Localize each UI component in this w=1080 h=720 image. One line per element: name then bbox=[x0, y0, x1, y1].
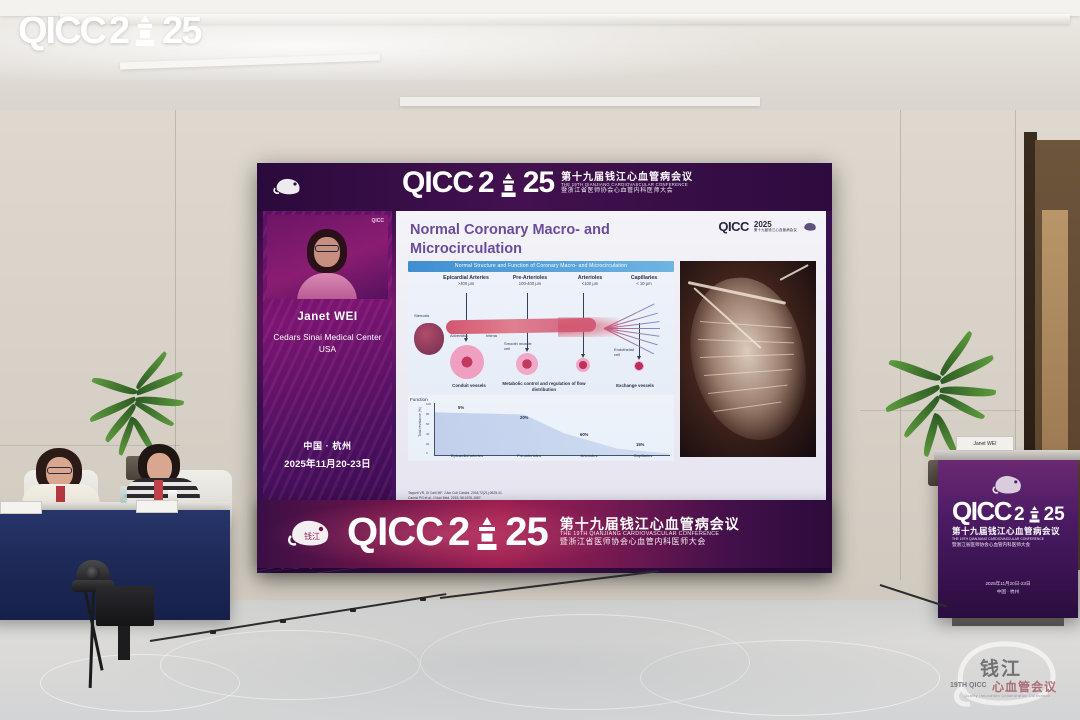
slide-qicc-logo: QICC 2025第十九届钱江心血管病会议 bbox=[718, 219, 818, 234]
chart-ylabel: Total resistance (%) bbox=[418, 407, 422, 437]
header-year-right: 25 bbox=[523, 169, 554, 198]
corrosion-cast-micrograph bbox=[680, 261, 816, 457]
cable-clip bbox=[210, 630, 216, 634]
banner-year-left: 2 bbox=[448, 513, 469, 551]
stenosis-label: Stenosis bbox=[414, 313, 429, 318]
vessel-cross-section bbox=[450, 345, 484, 379]
podium-lockup: QICC 2 25 第十九届钱江心血管病会议 THE 19TH QIANJIAN… bbox=[952, 500, 1065, 548]
venue-watermark: 钱江 心血管会议 19TH QICC Quality Innovation Co… bbox=[946, 632, 1070, 714]
chart-ytick: 0 bbox=[426, 451, 428, 455]
presenter-affiliation: Cedars Sinai Medical Center USA bbox=[263, 331, 392, 355]
vessel-cross-section bbox=[576, 358, 590, 372]
coronary-diagram: Epicardial Arteries >400 μm Pre-Arteriol… bbox=[408, 273, 674, 393]
presenter-date: 2025年11月20-23日 bbox=[263, 456, 392, 470]
svg-text:钱江: 钱江 bbox=[304, 531, 320, 541]
chart-category-label: Arterioles bbox=[560, 453, 618, 458]
header-year-left: 2 bbox=[478, 169, 494, 198]
podium-location: 中国 · 杭州 bbox=[938, 588, 1078, 596]
overlay-logo-year: 2 bbox=[109, 14, 128, 48]
video-badge-label: QICC bbox=[372, 218, 385, 224]
slide-title: Normal Coronary Macro- and Microcirculat… bbox=[410, 221, 690, 258]
header-cn-sub: 暨浙江省医师协会心血管内科医师大会 bbox=[561, 188, 693, 194]
capillary-bed bbox=[604, 309, 666, 347]
banner-qicc-word: QICC bbox=[347, 513, 443, 551]
presentation-slide: Normal Coronary Macro- and Microcirculat… bbox=[396, 211, 826, 506]
chart-category-label: Capillaries bbox=[614, 453, 672, 458]
water-bottle bbox=[120, 486, 127, 503]
podium-date-block: 2025年11月20日-23日 中国 · 杭州 bbox=[938, 580, 1078, 596]
chart-category-label: Epicardial arteries bbox=[438, 453, 496, 458]
podium-cn-en: THE 19TH QIANJIANG CARDIOVASCULAR CONFER… bbox=[952, 537, 1065, 541]
banner-lockup: 钱江 QICC 2 25 第十九届钱江心血管病会议 THE 19TH QIANJ… bbox=[285, 513, 740, 551]
mascot-icon bbox=[802, 221, 818, 232]
diagram-column-capillaries: Capillaries < 10 μm bbox=[614, 275, 674, 286]
monitor-stand bbox=[118, 626, 130, 660]
chart-value-label: 60% bbox=[580, 432, 588, 437]
smooth-muscle-label: Smooth muscle cell bbox=[504, 341, 538, 351]
vessel-cross-section bbox=[634, 361, 644, 371]
column-size: >400 μm bbox=[436, 281, 496, 286]
pagoda-icon bbox=[474, 516, 500, 551]
presenter-torso bbox=[297, 273, 357, 299]
column-size: 100-400 μm bbox=[500, 281, 560, 286]
vessel-cross-section bbox=[516, 353, 538, 375]
pagoda-icon bbox=[132, 14, 158, 48]
banner-cn-sub: 暨浙江省医师协会心血管内科医师大会 bbox=[560, 538, 740, 546]
banner-year-right: 25 bbox=[505, 513, 548, 551]
watermark-cn: 钱江 bbox=[980, 654, 1022, 681]
column-size: < 10 μm bbox=[614, 281, 674, 286]
podium-year-left: 2 bbox=[1014, 506, 1025, 523]
cable-clip bbox=[420, 597, 426, 601]
presenter-institution: Cedars Sinai Medical Center bbox=[263, 331, 392, 343]
intima-label: Intima bbox=[486, 333, 497, 338]
adventitia-label: Adventitia bbox=[450, 333, 468, 338]
confidence-monitor bbox=[96, 586, 154, 626]
podium-date: 2025年11月20日-23日 bbox=[938, 580, 1078, 588]
header-qicc-word: QICC bbox=[402, 169, 473, 198]
watermark-tagline: Quality Innovation Collaboration Cultiva… bbox=[964, 694, 1050, 698]
presenter-glasses bbox=[315, 245, 339, 252]
diagram-column-prearterioles: Pre-Arterioles 100-400 μm bbox=[500, 275, 560, 286]
slide-logo-sub: 第十九届钱江心血管病会议 bbox=[754, 229, 797, 232]
chart-category-label: Pre-arterioles bbox=[500, 453, 558, 458]
mascot-icon: 钱江 bbox=[285, 515, 335, 549]
presenter-location: 中国 · 杭州 bbox=[263, 439, 392, 452]
pagoda-icon bbox=[1028, 506, 1041, 523]
chart-ytick: 60 bbox=[426, 422, 429, 426]
overlay-logo-year2: 25 bbox=[162, 14, 200, 48]
presenter-face bbox=[314, 237, 340, 267]
conference-photo: QICC 2 25 bbox=[0, 0, 1080, 720]
chart-ytick: 20 bbox=[426, 442, 429, 446]
presenter-name: Janet WEI bbox=[263, 311, 392, 323]
pagoda-icon bbox=[499, 172, 518, 198]
podium-qicc-word: QICC bbox=[952, 500, 1011, 523]
paper-cup bbox=[168, 490, 177, 501]
chart-resistance-curve bbox=[435, 403, 669, 455]
screen-header: QICC 2 25 第十九届钱江心血管病会议 THE 19TH QIANJIAN… bbox=[257, 163, 832, 211]
function-label-metabolic: Metabolic control and regulation of flow… bbox=[502, 381, 586, 392]
name-card-right bbox=[136, 500, 178, 513]
banner-cn-main: 第十九届钱江心血管病会议 bbox=[560, 517, 740, 532]
overlay-qicc-logo: QICC 2 25 bbox=[18, 14, 200, 48]
presenter-country: USA bbox=[263, 343, 392, 355]
chart-ytick: 80 bbox=[426, 412, 429, 416]
podium-year-right: 25 bbox=[1044, 506, 1065, 523]
podium-top-surface bbox=[934, 450, 1080, 460]
name-card-left bbox=[0, 501, 42, 514]
chart-value-label: 5% bbox=[458, 405, 464, 410]
slide-logo-year: 2025第十九届钱江心血管病会议 bbox=[754, 221, 797, 232]
presenter-video-feed[interactable]: QICC bbox=[267, 215, 388, 299]
chart-value-label: 20% bbox=[520, 415, 528, 420]
function-label-exchange: Exchange vessels bbox=[604, 383, 666, 389]
screen-header-lockup: QICC 2 25 第十九届钱江心血管病会议 THE 19TH QIANJIAN… bbox=[402, 169, 693, 198]
slide-logo-word: QICC bbox=[718, 219, 749, 234]
podium-name-plate: Janet WEI bbox=[956, 436, 1014, 451]
watermark-cn-accent: 心血管会议 bbox=[992, 678, 1057, 695]
podium-cn-sub: 暨浙江省医师协会心血管内科医师大会 bbox=[952, 542, 1065, 548]
ceiling-light-strip bbox=[400, 97, 760, 106]
mascot-icon bbox=[990, 472, 1026, 496]
cable-clip bbox=[350, 608, 356, 612]
podium-cn-main: 第十九届钱江心血管病会议 bbox=[952, 525, 1065, 537]
chart-ytick: 40 bbox=[426, 432, 429, 436]
header-chinese-block: 第十九届钱江心血管病会议 THE 19TH QIANJIANG CARDIOVA… bbox=[561, 173, 693, 194]
function-label-conduit: Conduit vessels bbox=[438, 383, 500, 389]
watermark-en: 19TH QICC bbox=[950, 682, 987, 689]
resistance-chart: Function Total resistance (%) 100 80 60 … bbox=[408, 395, 674, 461]
chart-value-label: 15% bbox=[636, 442, 644, 447]
diagram-column-arterioles: Arterioles <100 μm bbox=[560, 275, 620, 286]
diagram-header-bar: Normal Structure and Function of Coronar… bbox=[408, 261, 674, 272]
camera-lens-icon bbox=[86, 566, 100, 580]
banner-chinese-block: 第十九届钱江心血管病会议 THE 19TH QIANJIANG CARDIOVA… bbox=[560, 517, 740, 546]
column-size: <100 μm bbox=[560, 281, 620, 286]
podium: Janet WEI QICC 2 25 第十九届钱江心血管病会议 THE 19T… bbox=[938, 458, 1078, 618]
diagram-header-text: Normal Structure and Function of Coronar… bbox=[408, 261, 674, 272]
endothelium-label: Endothelial cell bbox=[614, 347, 640, 357]
chart-function-label: Function bbox=[410, 397, 428, 402]
chart-ytick: 100 bbox=[426, 402, 431, 406]
chart-y-axis bbox=[434, 403, 435, 455]
diagram-column-epicardial: Epicardial Arteries >400 μm bbox=[436, 275, 496, 286]
stage-banner: 钱江 QICC 2 25 第十九届钱江心血管病会议 THE 19TH QIANJ… bbox=[257, 500, 832, 568]
heart-illustration bbox=[414, 323, 444, 355]
cable-clip bbox=[280, 619, 286, 623]
overlay-logo-word: QICC bbox=[18, 14, 105, 48]
mascot-icon bbox=[272, 175, 304, 197]
